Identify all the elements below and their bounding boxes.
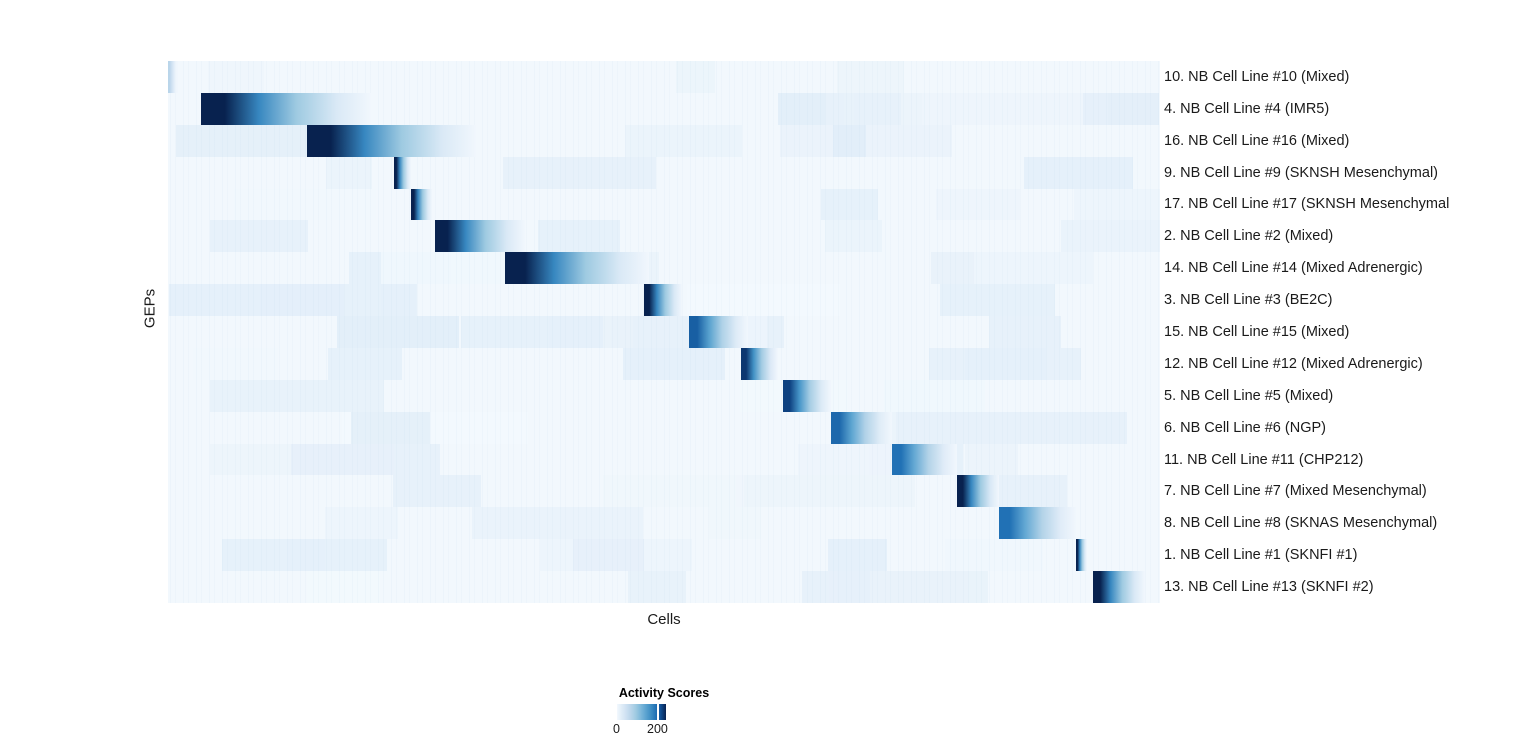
heatmap-column-noise (168, 444, 1160, 476)
heatmap-activity-block (783, 380, 831, 412)
heatmap-activity-block (394, 157, 411, 189)
heatmap-row (168, 380, 1160, 412)
heatmap-activity-block (644, 284, 682, 316)
heatmap-activity-block (957, 475, 1000, 507)
colorbar-legend: Activity Scores 0 200 (560, 686, 820, 743)
gep-row-label: 14. NB Cell Line #14 (Mixed Adrenergic) (1164, 259, 1423, 277)
heatmap-activity-block (505, 252, 649, 284)
heatmap-row (168, 284, 1160, 316)
heatmap-row (168, 316, 1160, 348)
gep-row-label: 2. NB Cell Line #2 (Mixed) (1164, 227, 1333, 245)
gep-row-label: 4. NB Cell Line #4 (IMR5) (1164, 100, 1329, 118)
heatmap-activity-block (307, 125, 476, 157)
gep-row-label: 15. NB Cell Line #15 (Mixed) (1164, 323, 1349, 341)
heatmap-activity-block (411, 189, 432, 221)
heatmap-activity-block (168, 61, 178, 93)
heatmap-activity-block (201, 93, 372, 125)
gep-row-label: 16. NB Cell Line #16 (Mixed) (1164, 132, 1349, 150)
heatmap-row (168, 539, 1160, 571)
heatmap-column-noise (168, 571, 1160, 603)
gep-row-label: 7. NB Cell Line #7 (Mixed Mesenchymal) (1164, 482, 1427, 500)
gep-row-label-list: 10. NB Cell Line #10 (Mixed)4. NB Cell L… (1164, 61, 1534, 603)
heatmap-column-noise (168, 348, 1160, 380)
gep-row-label: 6. NB Cell Line #6 (NGP) (1164, 419, 1326, 437)
heatmap-column-noise (168, 475, 1160, 507)
heatmap-row (168, 252, 1160, 284)
heatmap-row (168, 412, 1160, 444)
heatmap-column-noise (168, 61, 1160, 93)
gep-row-label: 12. NB Cell Line #12 (Mixed Adrenergic) (1164, 355, 1423, 373)
heatmap-column-noise (168, 189, 1160, 221)
colorbar-tick-min (616, 704, 617, 720)
gep-row-label: 1. NB Cell Line #1 (SKNFI #1) (1164, 546, 1357, 564)
x-axis-label: Cells (168, 611, 1160, 628)
heatmap-row (168, 507, 1160, 539)
gep-row-label: 3. NB Cell Line #3 (BE2C) (1164, 291, 1332, 309)
heatmap-row (168, 189, 1160, 221)
heatmap-activity-block (689, 316, 749, 348)
heatmap-row (168, 348, 1160, 380)
heatmap-row (168, 93, 1160, 125)
heatmap-column-noise (168, 412, 1160, 444)
colorbar-tick-max (657, 704, 659, 720)
colorbar-title: Activity Scores (560, 686, 768, 700)
heatmap-activity-block (831, 412, 893, 444)
heatmap-row (168, 475, 1160, 507)
heatmap-column-noise (168, 220, 1160, 252)
heatmap-row (168, 157, 1160, 189)
heatmap-row (168, 61, 1160, 93)
heatmap-column-noise (168, 252, 1160, 284)
gep-row-label: 11. NB Cell Line #11 (CHP212) (1164, 451, 1363, 469)
gep-row-label: 17. NB Cell Line #17 (SKNSH Mesenchymal (1164, 195, 1449, 213)
heatmap-activity-block (892, 444, 956, 476)
gep-row-label: 9. NB Cell Line #9 (SKNSH Mesenchymal) (1164, 164, 1438, 182)
heatmap-row (168, 571, 1160, 603)
heatmap-column-noise (168, 539, 1160, 571)
gep-row-label: 13. NB Cell Line #13 (SKNFI #2) (1164, 578, 1374, 596)
heatmap-activity-block (1076, 539, 1087, 571)
colorbar-tick-label-max: 200 (647, 722, 668, 736)
heatmap-activity-block (999, 507, 1075, 539)
heatmap-column-noise (168, 380, 1160, 412)
colorbar-tick-label-min: 0 (613, 722, 620, 736)
heatmap-row (168, 220, 1160, 252)
heatmap-row (168, 444, 1160, 476)
heatmap-activity-block (1093, 571, 1146, 603)
gep-row-label: 10. NB Cell Line #10 (Mixed) (1164, 68, 1349, 86)
heatmap-row (168, 125, 1160, 157)
heatmap-plot-area (168, 61, 1160, 603)
gep-row-label: 8. NB Cell Line #8 (SKNAS Mesenchymal) (1164, 514, 1437, 532)
y-axis-label: GEPs (142, 289, 159, 329)
heatmap-activity-block (435, 220, 525, 252)
heatmap-column-noise (168, 157, 1160, 189)
gep-row-label: 5. NB Cell Line #5 (Mixed) (1164, 387, 1333, 405)
heatmap-activity-block (741, 348, 778, 380)
heatmap-figure: GEPs Cells 10. NB Cell Line #10 (Mixed)4… (0, 0, 1540, 743)
heatmap-column-noise (168, 316, 1160, 348)
